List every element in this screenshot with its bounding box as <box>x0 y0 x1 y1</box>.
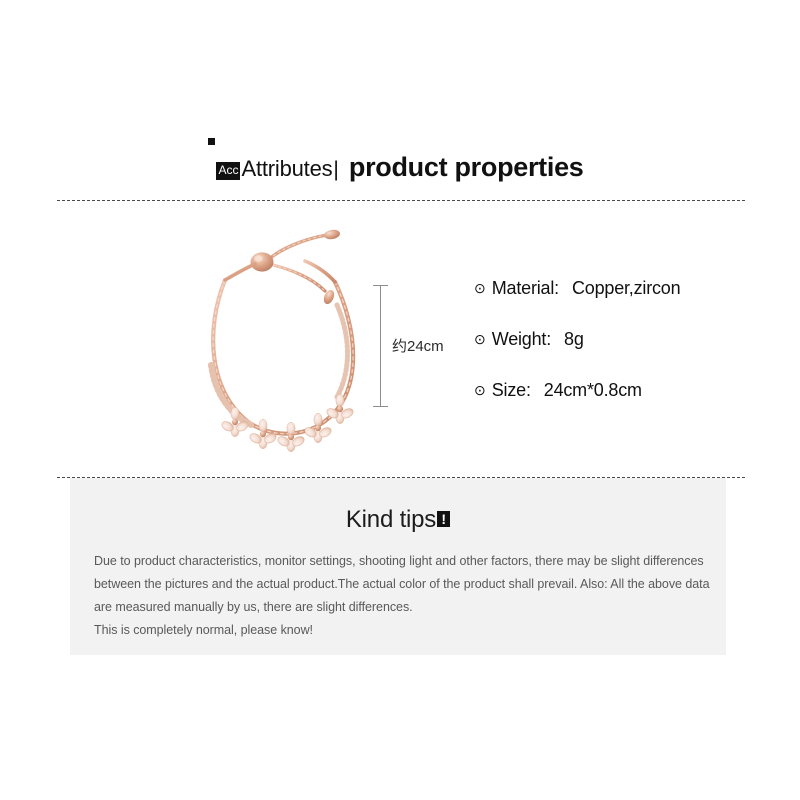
kind-tips-panel: Kind tips! Due to product characteristic… <box>70 478 726 655</box>
chain-tail-right <box>269 235 327 259</box>
kind-tips-label: Kind tips <box>346 506 436 533</box>
spec-item-size: ⊙ Size: 24cm*0.8cm <box>474 380 774 401</box>
product-image <box>185 225 385 455</box>
bullet-icon: ⊙ <box>474 281 486 295</box>
square-marker-icon <box>208 138 215 145</box>
spec-value-weight: 8g <box>564 329 584 350</box>
spec-value-size: 24cm*0.8cm <box>544 380 642 401</box>
page-title: Acc Attributes | product properties <box>0 152 800 183</box>
dimension-cap-bottom <box>373 406 388 407</box>
slider-bead-highlight <box>254 255 262 261</box>
exclamation-badge-icon: ! <box>437 511 450 527</box>
divider-top <box>57 200 745 201</box>
spec-list: ⊙ Material: Copper,zircon ⊙ Weight: 8g ⊙… <box>474 278 774 431</box>
flower-charm-group <box>220 394 355 451</box>
slider-bead <box>251 252 274 271</box>
spec-label-size: Size: <box>492 380 531 401</box>
title-product-properties: product properties <box>349 152 584 183</box>
chain-end-cap <box>323 229 340 241</box>
flower-charm <box>220 407 250 436</box>
kind-tips-body: Due to product characteristics, monitor … <box>94 550 712 642</box>
title-separator: | <box>333 158 338 182</box>
spec-label-material: Material: <box>492 278 559 299</box>
title-attributes: Attributes <box>241 156 332 182</box>
spec-item-material: ⊙ Material: Copper,zircon <box>474 278 774 299</box>
flower-charm <box>276 422 306 451</box>
tips-paragraph-2: This is completely normal, please know! <box>94 619 712 642</box>
zircon-stones-right <box>337 305 348 397</box>
spec-item-weight: ⊙ Weight: 8g <box>474 329 774 350</box>
bullet-icon: ⊙ <box>474 383 486 397</box>
bullet-icon: ⊙ <box>474 332 486 346</box>
dimension-cap-top <box>373 285 388 286</box>
acc-badge: Acc <box>216 162 240 180</box>
dimension-label: 约24cm <box>392 335 444 356</box>
bracelet-illustration <box>185 225 385 455</box>
spec-label-weight: Weight: <box>492 329 551 350</box>
tips-paragraph-1: Due to product characteristics, monitor … <box>94 550 712 619</box>
dimension-line <box>373 285 389 407</box>
product-detail-page: { "header": { "marker_icon": "black-squa… <box>0 0 800 800</box>
spec-value-material: Copper,zircon <box>572 278 680 299</box>
dimension-line-stem <box>380 285 381 407</box>
chain-upper-left <box>225 264 255 280</box>
kind-tips-title: Kind tips! <box>70 506 726 534</box>
chain-tail-right-texture <box>269 235 327 259</box>
